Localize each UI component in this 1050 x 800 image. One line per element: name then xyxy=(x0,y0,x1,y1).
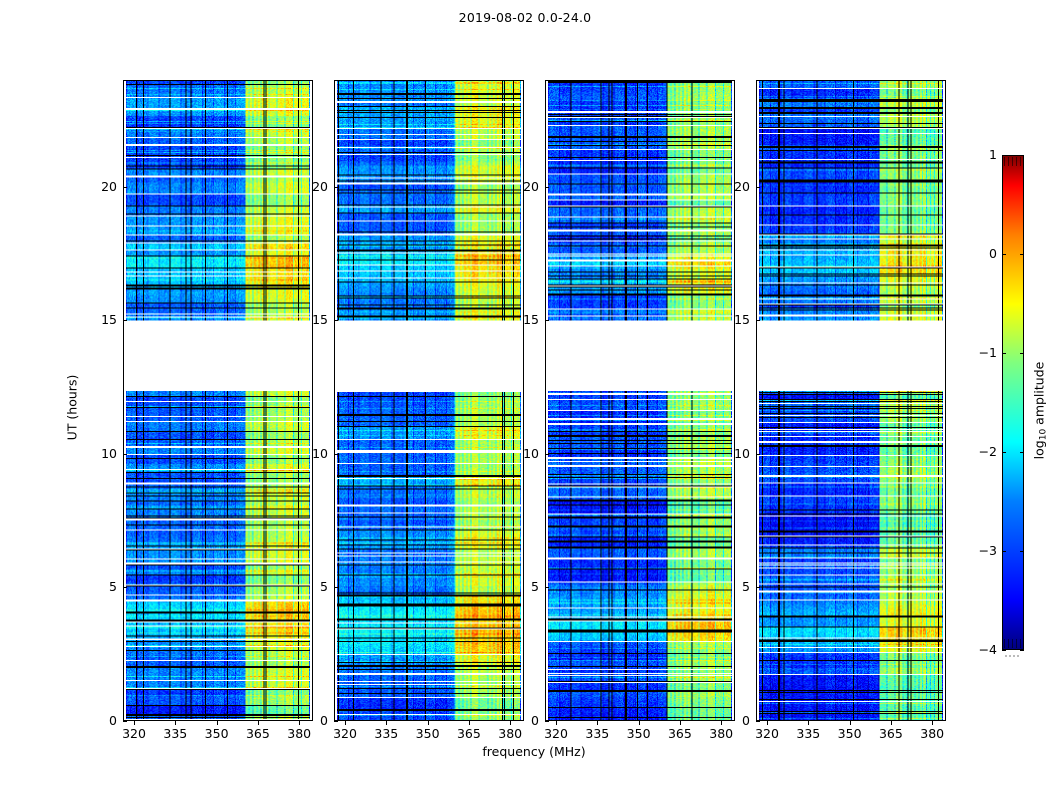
y-axis-tick xyxy=(334,721,338,722)
figure-suptitle: 2019-08-02 0.0-24.0 xyxy=(0,10,1050,25)
x-axis-tick xyxy=(850,721,851,725)
colorbar-tick xyxy=(1002,155,1006,156)
y-axis-tick-label: 5 xyxy=(720,579,750,594)
x-axis-tick-label: 365 xyxy=(871,726,911,741)
x-axis-tick xyxy=(556,721,557,725)
x-axis-tick-label: 320 xyxy=(325,726,365,741)
y-axis-tick xyxy=(123,320,127,321)
x-axis-tick xyxy=(386,721,387,725)
x-axis-tick-label: 350 xyxy=(619,726,659,741)
x-axis-tick xyxy=(469,721,470,725)
colorbar-label-subscript: 10 xyxy=(1039,429,1049,440)
x-axis-tick-label: 335 xyxy=(577,726,617,741)
colorbar-label-log: log xyxy=(1032,440,1047,459)
colorbar-tick xyxy=(1020,254,1024,255)
x-axis-tick xyxy=(767,721,768,725)
spectrogram-image-yy xyxy=(335,81,523,720)
x-axis-tick xyxy=(597,721,598,725)
spectrogram-image-xx xyxy=(124,81,312,720)
x-axis-tick xyxy=(428,721,429,725)
y-axis-tick-label: 0 xyxy=(87,713,117,728)
colorbar-gradient xyxy=(1002,155,1024,650)
y-axis-tick xyxy=(123,454,127,455)
colorbar-tick-label: −1 xyxy=(971,345,997,360)
x-axis-tick-label: 350 xyxy=(830,726,870,741)
x-axis-tick xyxy=(808,721,809,725)
y-axis-tick-label: 5 xyxy=(298,579,328,594)
y-axis-tick-label: 20 xyxy=(87,179,117,194)
colorbar-tick xyxy=(1002,650,1006,651)
colorbar-tick xyxy=(1020,452,1024,453)
y-axis-tick xyxy=(756,187,760,188)
y-axis-tick xyxy=(545,587,549,588)
x-axis-tick-label: 365 xyxy=(238,726,278,741)
colorbar-tick-label: −4 xyxy=(971,642,997,657)
panel-yx[interactable]: YX, V5*V13=EA04*EA11 xyxy=(756,80,946,721)
x-axis-tick xyxy=(680,721,681,725)
colorbar-tick xyxy=(1020,650,1024,651)
x-axis-tick-label: 320 xyxy=(114,726,154,741)
y-axis-tick-label: 0 xyxy=(298,713,328,728)
colorbar-tick xyxy=(1020,353,1024,354)
x-axis-tick-label: 365 xyxy=(449,726,489,741)
y-axis-tick-label: 15 xyxy=(298,312,328,327)
x-axis-tick xyxy=(891,721,892,725)
y-axis-tick-label: 10 xyxy=(509,446,539,461)
y-axis-tick-label: 20 xyxy=(720,179,750,194)
x-axis-tick-label: 320 xyxy=(536,726,576,741)
y-axis-tick xyxy=(334,587,338,588)
x-axis-tick-label: 335 xyxy=(788,726,828,741)
x-axis-tick xyxy=(932,721,933,725)
colorbar-tick xyxy=(1020,551,1024,552)
colorbar-under-hatch xyxy=(1004,639,1024,648)
panel-yy[interactable]: YY, V5*V13=EA04*EA11 xyxy=(334,80,524,721)
colorbar-tick xyxy=(1002,254,1006,255)
x-axis-tick xyxy=(639,721,640,725)
colorbar[interactable]: −4−3−2−101 xyxy=(1002,155,1024,650)
x-axis-tick xyxy=(134,721,135,725)
y-axis-tick-label: 15 xyxy=(87,312,117,327)
x-axis-tick-label: 380 xyxy=(912,726,952,741)
y-axis-tick-label: 0 xyxy=(720,713,750,728)
x-axis-tick-label: 350 xyxy=(197,726,237,741)
y-axis-tick xyxy=(545,320,549,321)
colorbar-tick xyxy=(1002,551,1006,552)
y-axis-tick xyxy=(545,721,549,722)
y-axis-tick-label: 20 xyxy=(298,179,328,194)
y-axis-tick-label: 10 xyxy=(720,446,750,461)
y-axis-tick xyxy=(334,454,338,455)
y-axis-tick-label: 10 xyxy=(298,446,328,461)
colorbar-dotted-marker xyxy=(1005,655,1021,657)
x-axis-tick xyxy=(175,721,176,725)
y-axis-tick xyxy=(756,454,760,455)
y-axis-tick xyxy=(334,187,338,188)
colorbar-label: log10 amplitude xyxy=(1032,362,1049,460)
colorbar-tick xyxy=(1002,452,1006,453)
y-axis-tick-label: 5 xyxy=(509,579,539,594)
y-axis-tick xyxy=(334,320,338,321)
y-axis-tick xyxy=(123,187,127,188)
y-axis-tick xyxy=(123,587,127,588)
y-axis-tick-label: 0 xyxy=(509,713,539,728)
colorbar-tick xyxy=(1002,353,1006,354)
spectrogram-image-yx xyxy=(757,81,945,720)
y-axis-label: UT (hours) xyxy=(65,375,80,441)
x-axis-tick-label: 335 xyxy=(155,726,195,741)
y-axis-tick-label: 5 xyxy=(87,579,117,594)
colorbar-tick xyxy=(1020,155,1024,156)
colorbar-tick-label: −2 xyxy=(971,444,997,459)
x-axis-tick xyxy=(345,721,346,725)
y-axis-tick xyxy=(123,721,127,722)
x-axis-tick-label: 350 xyxy=(408,726,448,741)
x-axis-tick-label: 335 xyxy=(366,726,406,741)
y-axis-tick-label: 15 xyxy=(509,312,539,327)
dynamic-spectrum-figure: 2019-08-02 0.0-24.0 XX, V5*V13=EA04*EA11… xyxy=(0,0,1050,800)
colorbar-tick-label: 0 xyxy=(971,246,997,261)
x-axis-tick-label: 365 xyxy=(660,726,700,741)
y-axis-tick xyxy=(545,454,549,455)
colorbar-tick-label: 1 xyxy=(971,147,997,162)
x-axis-tick xyxy=(217,721,218,725)
panel-xy[interactable]: XY, V5*V13=EA04*EA11 xyxy=(545,80,735,721)
y-axis-tick-label: 10 xyxy=(87,446,117,461)
y-axis-tick xyxy=(545,187,549,188)
x-axis-tick-label: 380 xyxy=(279,726,319,741)
x-axis-label: frequency (MHz) xyxy=(123,744,945,759)
y-axis-tick xyxy=(756,721,760,722)
x-axis-tick-label: 380 xyxy=(701,726,741,741)
spectrogram-image-xy xyxy=(546,81,734,720)
colorbar-tick-label: −3 xyxy=(971,543,997,558)
y-axis-tick xyxy=(756,320,760,321)
y-axis-tick-label: 20 xyxy=(509,179,539,194)
x-axis-tick xyxy=(258,721,259,725)
y-axis-tick xyxy=(756,587,760,588)
colorbar-over-hatch xyxy=(1004,157,1024,166)
x-axis-tick-label: 380 xyxy=(490,726,530,741)
colorbar-label-amplitude: amplitude xyxy=(1032,362,1047,429)
x-axis-tick-label: 320 xyxy=(747,726,787,741)
y-axis-tick-label: 15 xyxy=(720,312,750,327)
panel-xx[interactable]: XX, V5*V13=EA04*EA11 xyxy=(123,80,313,721)
